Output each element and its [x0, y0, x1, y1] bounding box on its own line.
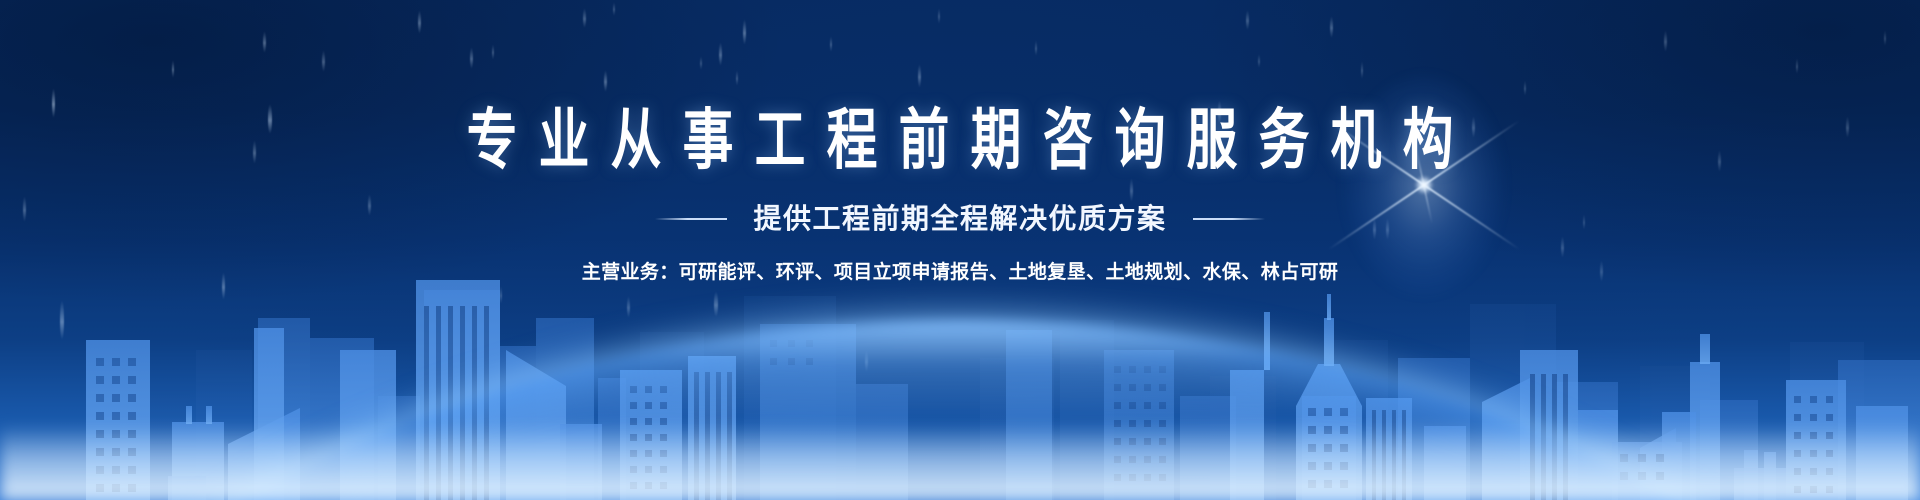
page-title-glyph: 咨 — [1043, 105, 1094, 176]
page-title-glyph: 工 — [755, 105, 806, 176]
page-title-glyph: 专 — [467, 105, 518, 176]
page-title-glyph: 构 — [1403, 105, 1454, 176]
page-title: 专业从事工程前期咨询服务机构 — [456, 118, 1464, 176]
page-title-glyph: 前 — [899, 105, 950, 176]
divider-rule-left — [655, 218, 727, 220]
page-title-glyph: 机 — [1331, 105, 1382, 176]
page-title-glyph: 从 — [611, 105, 662, 176]
page-title-glyph: 务 — [1259, 105, 1310, 176]
page-title-glyph: 询 — [1115, 105, 1166, 176]
page-title-glyph: 业 — [539, 105, 590, 176]
banner-tagline: 主营业务：可研能评、环评、项目立项申请报告、土地复垦、土地规划、水保、林占可研 — [582, 260, 1339, 284]
subtitle-row: 提供工程前期全程解决优质方案 — [655, 202, 1264, 236]
page-title-glyph: 期 — [971, 105, 1022, 176]
hero-banner: 专业从事工程前期咨询服务机构 提供工程前期全程解决优质方案 主营业务：可研能评、… — [0, 0, 1920, 500]
page-title-glyph: 事 — [683, 105, 734, 176]
page-title-glyph: 服 — [1187, 105, 1238, 176]
divider-rule-right — [1193, 218, 1265, 220]
banner-content: 专业从事工程前期咨询服务机构 提供工程前期全程解决优质方案 主营业务：可研能评、… — [0, 0, 1920, 500]
banner-subtitle: 提供工程前期全程解决优质方案 — [753, 202, 1166, 236]
page-title-glyph: 程 — [827, 105, 878, 176]
